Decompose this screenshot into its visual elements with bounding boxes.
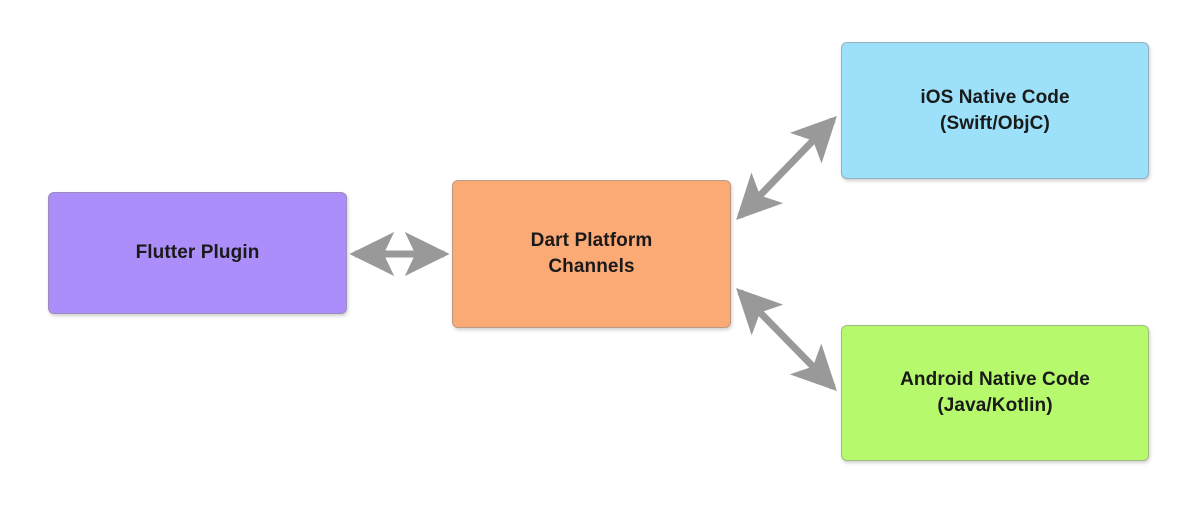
connector-channels-to-ios bbox=[740, 120, 833, 216]
node-android-native-code-label: Android Native Code (Java/Kotlin) bbox=[900, 367, 1090, 418]
node-dart-platform-channels-label: Dart Platform Channels bbox=[531, 228, 653, 279]
node-flutter-plugin[interactable]: Flutter Plugin bbox=[48, 192, 347, 314]
node-ios-native-code[interactable]: iOS Native Code (Swift/ObjC) bbox=[841, 42, 1149, 179]
node-ios-native-code-label: iOS Native Code (Swift/ObjC) bbox=[920, 85, 1069, 136]
architecture-diagram: Flutter Plugin Dart Platform Channels iO… bbox=[0, 0, 1200, 510]
node-android-native-code[interactable]: Android Native Code (Java/Kotlin) bbox=[841, 325, 1149, 461]
connector-channels-to-android bbox=[740, 292, 833, 387]
node-flutter-plugin-label: Flutter Plugin bbox=[136, 240, 260, 266]
node-dart-platform-channels[interactable]: Dart Platform Channels bbox=[452, 180, 731, 328]
